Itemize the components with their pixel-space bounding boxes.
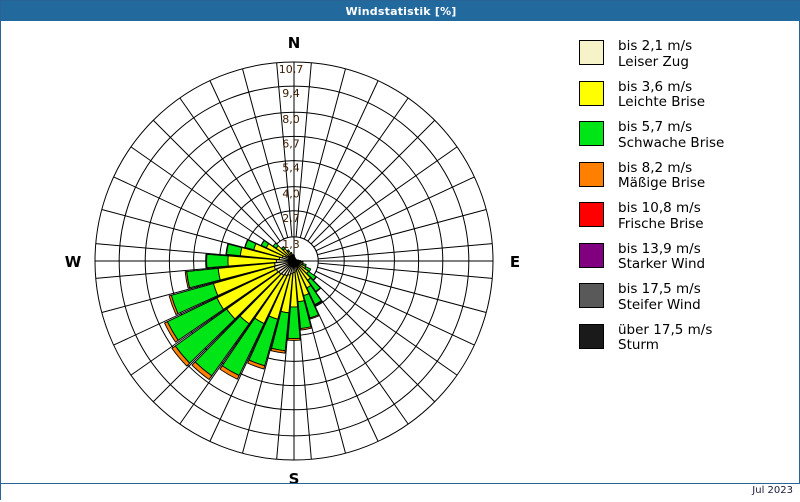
legend-item: bis 2,1 m/sLeiser Zug bbox=[579, 39, 794, 70]
legend-speed-range: bis 13,9 m/s bbox=[618, 242, 705, 258]
compass-label-south: S bbox=[289, 470, 300, 483]
grid-spoke bbox=[294, 120, 435, 261]
legend-beaufort-name: Starker Wind bbox=[618, 257, 705, 273]
windrose-petal-segment bbox=[207, 254, 229, 267]
legend-speed-range: bis 8,2 m/s bbox=[618, 161, 705, 177]
legend-item: über 17,5 m/sSturm bbox=[579, 323, 794, 354]
legend-color-swatch bbox=[579, 40, 604, 65]
legend-speed-range: über 17,5 m/s bbox=[618, 323, 712, 339]
legend-color-swatch bbox=[579, 121, 604, 146]
legend-item: bis 13,9 m/sStarker Wind bbox=[579, 242, 794, 273]
legend: bis 2,1 m/sLeiser Zugbis 3,6 m/sLeichte … bbox=[579, 39, 794, 363]
legend-beaufort-name: Mäßige Brise bbox=[618, 176, 705, 192]
grid-spoke bbox=[294, 69, 346, 261]
radial-tick-label: 2,7 bbox=[282, 212, 300, 225]
legend-color-swatch bbox=[579, 243, 604, 268]
legend-item: bis 10,8 m/sFrische Brise bbox=[579, 201, 794, 232]
grid-spoke bbox=[153, 120, 294, 261]
windrose-petal-segment bbox=[292, 255, 293, 256]
windrose-petal-segment bbox=[206, 254, 207, 268]
legend-beaufort-name: Leichte Brise bbox=[618, 95, 705, 111]
legend-label: bis 10,8 m/sFrische Brise bbox=[618, 201, 704, 232]
legend-label: bis 17,5 m/sSteifer Wind bbox=[618, 282, 701, 313]
legend-item: bis 8,2 m/sMäßige Brise bbox=[579, 161, 794, 192]
legend-beaufort-name: Frische Brise bbox=[618, 217, 704, 233]
radial-tick-label: 10,7 bbox=[279, 63, 304, 76]
window-frame: Windstatistik [%] 1,32,74,05,46,78,09,41… bbox=[0, 0, 800, 500]
legend-speed-range: bis 5,7 m/s bbox=[618, 120, 724, 136]
legend-speed-range: bis 2,1 m/s bbox=[618, 39, 692, 55]
radial-tick-label: 4,0 bbox=[282, 188, 300, 201]
legend-beaufort-name: Leiser Zug bbox=[618, 55, 692, 71]
legend-color-swatch bbox=[579, 202, 604, 227]
legend-color-swatch bbox=[579, 81, 604, 106]
compass-label-west: W bbox=[65, 253, 82, 271]
legend-color-swatch bbox=[579, 324, 604, 349]
footer-period-label: Jul 2023 bbox=[752, 485, 793, 496]
legend-label: bis 2,1 m/sLeiser Zug bbox=[618, 39, 692, 70]
radial-tick-label: 5,4 bbox=[282, 162, 300, 175]
legend-color-swatch bbox=[579, 283, 604, 308]
radial-tick-label: 9,4 bbox=[282, 87, 300, 100]
compass-label-north: N bbox=[288, 34, 301, 52]
legend-speed-range: bis 17,5 m/s bbox=[618, 282, 701, 298]
legend-label: über 17,5 m/sSturm bbox=[618, 323, 712, 354]
grid-spoke bbox=[294, 209, 486, 261]
legend-label: bis 13,9 m/sStarker Wind bbox=[618, 242, 705, 273]
page-title: Windstatistik [%] bbox=[345, 5, 456, 18]
windrose-petal-segment bbox=[288, 338, 300, 340]
legend-beaufort-name: Sturm bbox=[618, 338, 712, 354]
legend-beaufort-name: Schwache Brise bbox=[618, 136, 724, 152]
legend-speed-range: bis 10,8 m/s bbox=[618, 201, 704, 217]
legend-speed-range: bis 3,6 m/s bbox=[618, 80, 705, 96]
windrose-petal-segment bbox=[290, 252, 292, 254]
windrose-petal-segment bbox=[226, 244, 241, 256]
legend-beaufort-name: Steifer Wind bbox=[618, 298, 701, 314]
radial-tick-label: 6,7 bbox=[282, 137, 300, 150]
legend-label: bis 3,6 m/sLeichte Brise bbox=[618, 80, 705, 111]
legend-item: bis 17,5 m/sSteifer Wind bbox=[579, 282, 794, 313]
radial-tick-label: 1,3 bbox=[282, 238, 300, 251]
radial-tick-label: 8,0 bbox=[282, 113, 300, 126]
footer-bar: Jul 2023 bbox=[1, 483, 800, 502]
compass-label-east: E bbox=[510, 253, 520, 271]
legend-item: bis 5,7 m/sSchwache Brise bbox=[579, 120, 794, 151]
grid-spoke bbox=[294, 261, 486, 313]
window-title-bar: Windstatistik [%] bbox=[1, 1, 800, 21]
legend-color-swatch bbox=[579, 162, 604, 187]
legend-item: bis 3,6 m/sLeichte Brise bbox=[579, 80, 794, 111]
legend-label: bis 8,2 m/sMäßige Brise bbox=[618, 161, 705, 192]
legend-label: bis 5,7 m/sSchwache Brise bbox=[618, 120, 724, 151]
windrose-petal-segment bbox=[288, 307, 300, 339]
